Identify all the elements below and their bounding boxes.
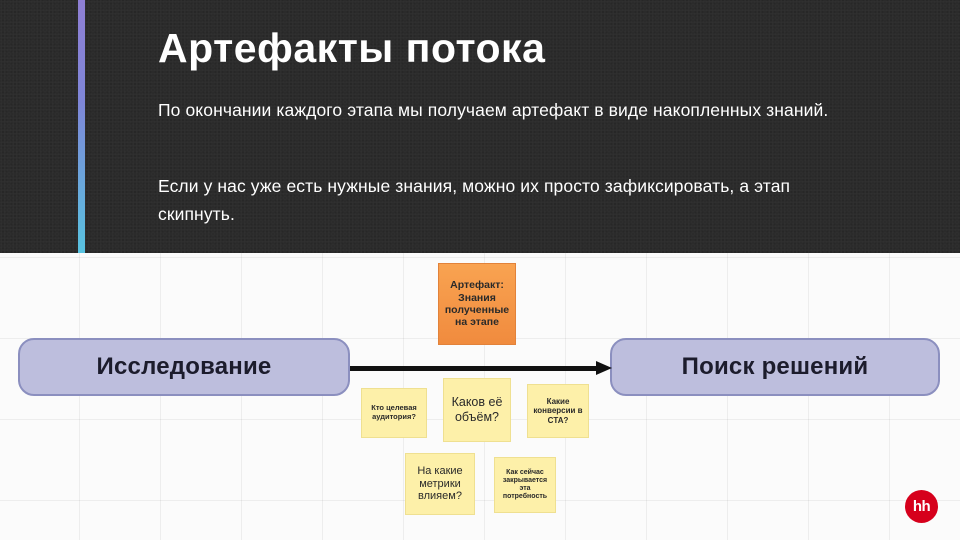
sticky-note-conversion: Какие конверсии в CTA? (527, 384, 589, 438)
arrow-head (596, 361, 612, 375)
sticky-note-needs-text: Как сейчас закрывается эта потребность (498, 469, 552, 502)
hh-logo-icon: hh (905, 490, 938, 523)
artifact-note-body: Знания полученные на этапе (442, 292, 512, 329)
stage-label-research: Исследование (97, 353, 272, 381)
sticky-note-conversion-text: Какие конверсии в CTA? (531, 397, 585, 425)
sticky-note-metrics: На какие метрики влияем? (405, 453, 475, 515)
artifact-note-title: Артефакт: (442, 279, 512, 291)
intro-paragraph-1: По окончании каждого этапа мы получаем а… (158, 96, 864, 124)
sticky-note-metrics-text: На какие метрики влияем? (409, 465, 471, 504)
stage-box-solutions[interactable]: Поиск решений (610, 338, 940, 396)
hh-logo-text: hh (913, 499, 930, 514)
arrow-shaft (350, 366, 598, 371)
stage-label-solutions: Поиск решений (682, 353, 869, 381)
intro-paragraph-2: Если у нас уже есть нужные знания, можно… (158, 172, 864, 229)
stage-box-research[interactable]: Исследование (18, 338, 350, 396)
page-title: Артефакты потока (158, 26, 918, 72)
sticky-note-audience: Кто целевая аудитория? (361, 388, 427, 438)
sticky-note-audience-text: Кто целевая аудитория? (365, 404, 423, 422)
sticky-note-volume-text: Каков её объём? (447, 395, 507, 425)
accent-bar (78, 0, 85, 253)
sticky-note-volume: Каков её объём? (443, 378, 511, 442)
sticky-note-needs: Как сейчас закрывается эта потребность (494, 457, 556, 513)
flow-arrow-icon (350, 363, 612, 373)
sticky-note-artifact: Артефакт: Знания полученные на этапе (438, 263, 516, 345)
slide: Артефакты потока По окончании каждого эт… (0, 0, 960, 540)
diagram-canvas: Исследование Поиск решений Артефакт: Зна… (0, 253, 960, 540)
slide-header-panel: Артефакты потока По окончании каждого эт… (0, 0, 960, 253)
